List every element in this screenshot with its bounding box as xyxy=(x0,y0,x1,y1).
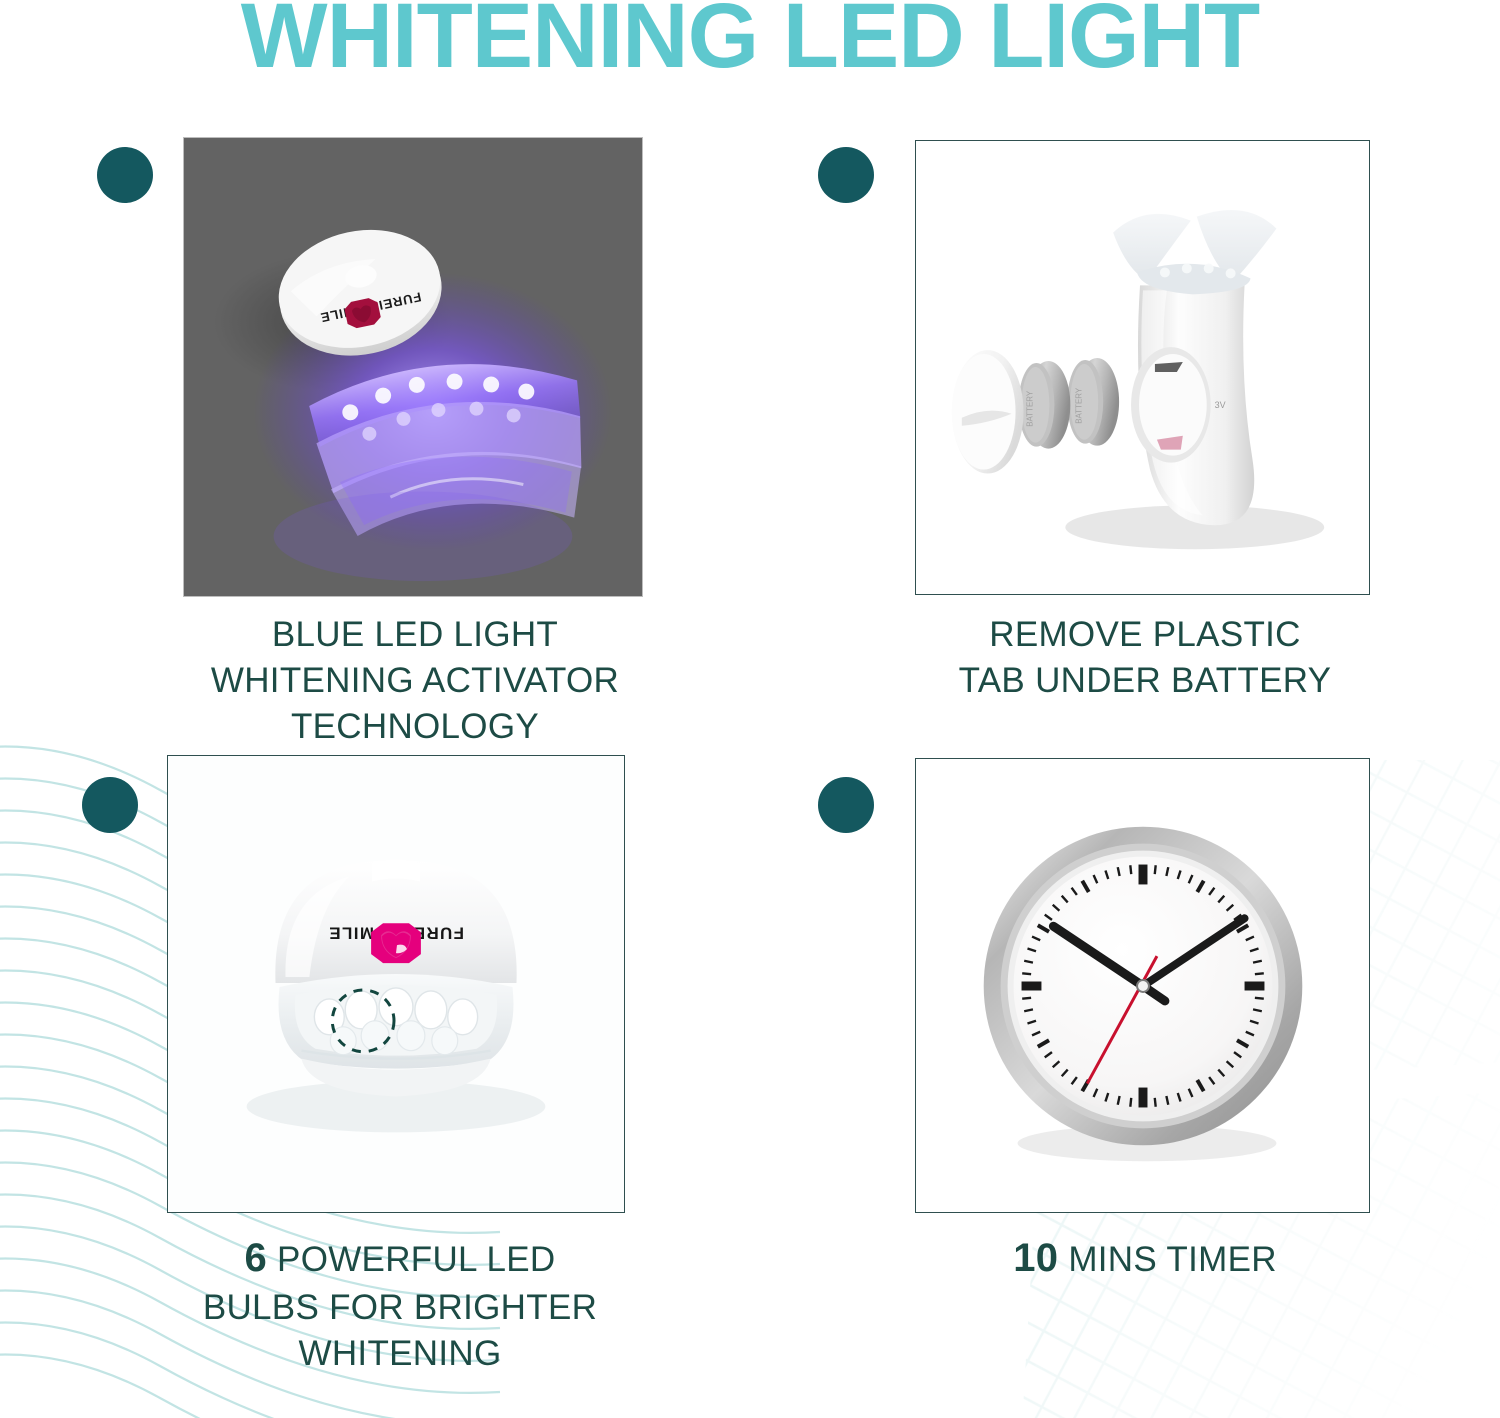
image-blue-led-light: FUREIN SMILE xyxy=(183,137,643,597)
image-led-bulbs: FUREIN SMILE xyxy=(167,755,625,1213)
caption-line: WHITENING ACTIVATOR xyxy=(160,658,670,704)
caption-line: POWERFUL LED xyxy=(277,1240,555,1279)
caption-line: TAB UNDER BATTERY xyxy=(900,658,1390,704)
caption-number: 6 xyxy=(244,1236,267,1280)
image-wall-clock xyxy=(915,758,1370,1213)
svg-text:BATTERY: BATTERY xyxy=(1025,390,1034,427)
caption-line-with-number: 10 MINS TIMER xyxy=(900,1232,1390,1285)
image-battery-exploded: 3V BATTERY BATTERY xyxy=(915,140,1370,595)
caption-line: MINS TIMER xyxy=(1068,1240,1276,1279)
infographic-page: WHITENING LED LIGHT xyxy=(0,0,1500,1418)
caption-line: BLUE LED LIGHT xyxy=(160,612,670,658)
svg-text:BATTERY: BATTERY xyxy=(1074,387,1083,424)
caption-line-with-number: 6 POWERFUL LED xyxy=(145,1232,655,1285)
caption-line: REMOVE PLASTIC xyxy=(900,612,1390,658)
caption-powerful-led-bulbs: 6 POWERFUL LED BULBS FOR BRIGHTER WHITEN… xyxy=(145,1232,655,1377)
caption-line: WHITENING xyxy=(145,1331,655,1377)
bullet-dot-remove-plastic-tab xyxy=(818,147,874,203)
bullet-dot-blue-led-light xyxy=(97,147,153,203)
caption-number: 10 xyxy=(1013,1236,1058,1280)
caption-blue-led-light: BLUE LED LIGHT WHITENING ACTIVATOR TECHN… xyxy=(160,612,670,751)
caption-ten-mins-timer: 10 MINS TIMER xyxy=(900,1232,1390,1285)
caption-line: BULBS FOR BRIGHTER xyxy=(145,1285,655,1331)
bullet-dot-powerful-led-bulbs xyxy=(82,777,138,833)
svg-text:3V: 3V xyxy=(1215,400,1226,410)
page-title: WHITENING LED LIGHT xyxy=(0,0,1500,85)
bullet-dot-ten-mins-timer xyxy=(818,777,874,833)
caption-remove-plastic-tab: REMOVE PLASTIC TAB UNDER BATTERY xyxy=(900,612,1390,704)
caption-line: TECHNOLOGY xyxy=(160,704,670,750)
